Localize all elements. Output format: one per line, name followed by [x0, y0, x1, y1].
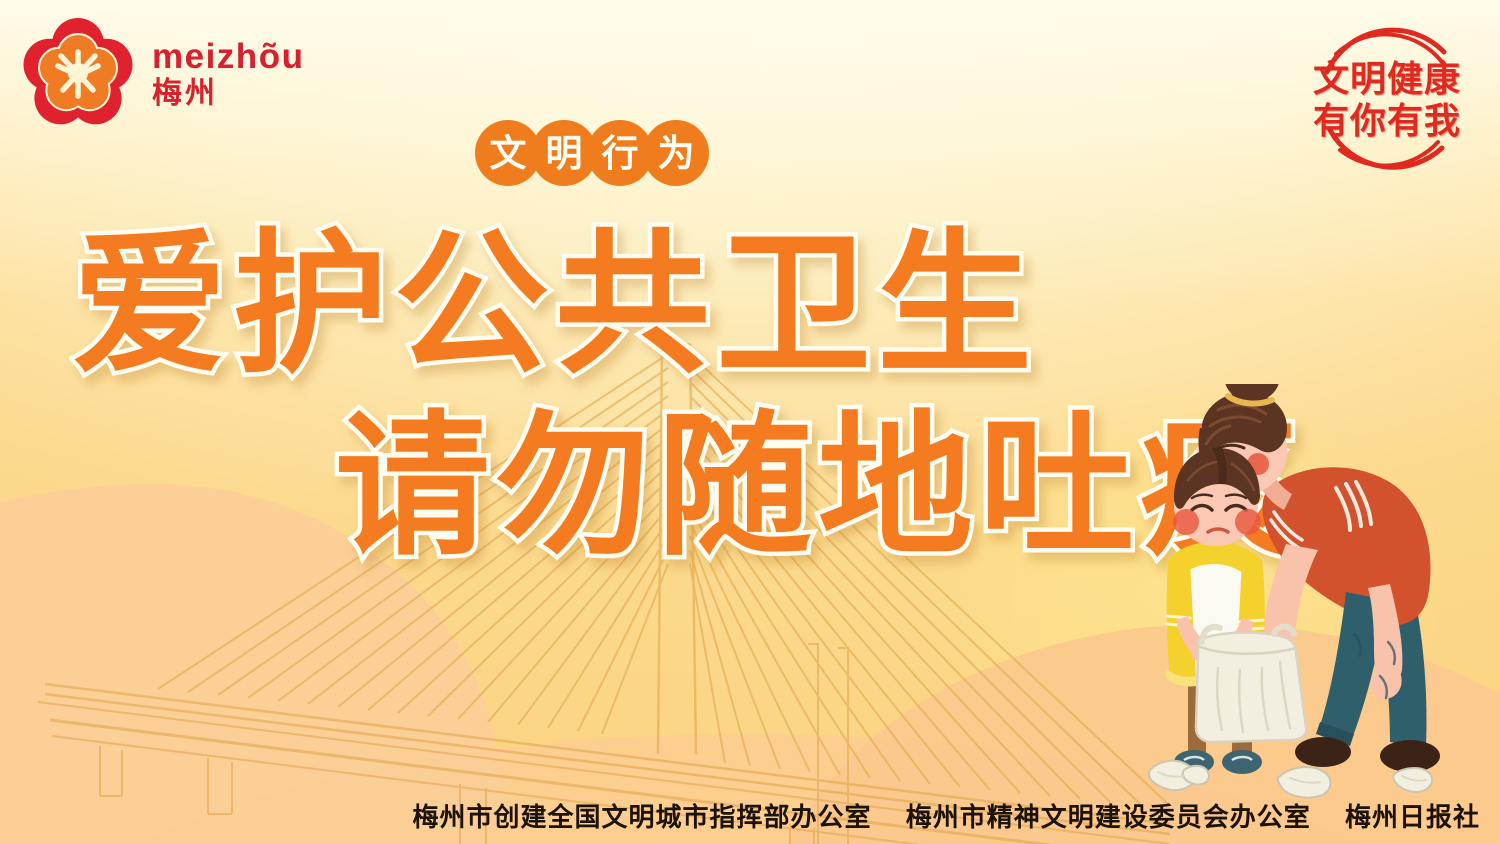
- footer-org-1: 梅州市创建全国文明城市指挥部办公室: [412, 802, 871, 832]
- footer-org-3: 梅州日报社: [1345, 802, 1480, 832]
- seal-text: 文明健康 有你有我: [1292, 10, 1482, 190]
- civilized-health-seal: 文明健康 有你有我: [1292, 10, 1482, 190]
- footer-org-2: 梅州市精神文明建设委员会办公室: [906, 802, 1311, 832]
- mother-and-child-illustration: [1140, 384, 1500, 814]
- footer: 梅州市创建全国文明城市指挥部办公室 梅州市精神文明建设委员会办公室 梅州日报社: [0, 797, 1500, 834]
- footer-organizations: 梅州市创建全国文明城市指挥部办公室 梅州市精神文明建设委员会办公室 梅州日报社: [412, 797, 1480, 834]
- civilized-behavior-label: 文 明 行 为: [475, 120, 709, 186]
- pill-char-4: 为: [643, 120, 709, 186]
- logo-chinese: 梅州: [152, 79, 304, 109]
- background-peach-left: [0, 484, 500, 844]
- seal-line-1: 文明健康: [1313, 59, 1461, 99]
- logo-pinyin: meizhõu: [152, 39, 304, 74]
- seal-line-2: 有你有我: [1313, 101, 1461, 141]
- poster-canvas: meizhõu 梅州 文明健康 有你有我 文 明 行 为 爱护公共卫生 请勿随地…: [0, 0, 1500, 844]
- meizhou-logo: meizhõu 梅州: [22, 18, 304, 130]
- plum-blossom-icon: [22, 18, 134, 130]
- logo-wordmark: meizhõu 梅州: [152, 39, 304, 109]
